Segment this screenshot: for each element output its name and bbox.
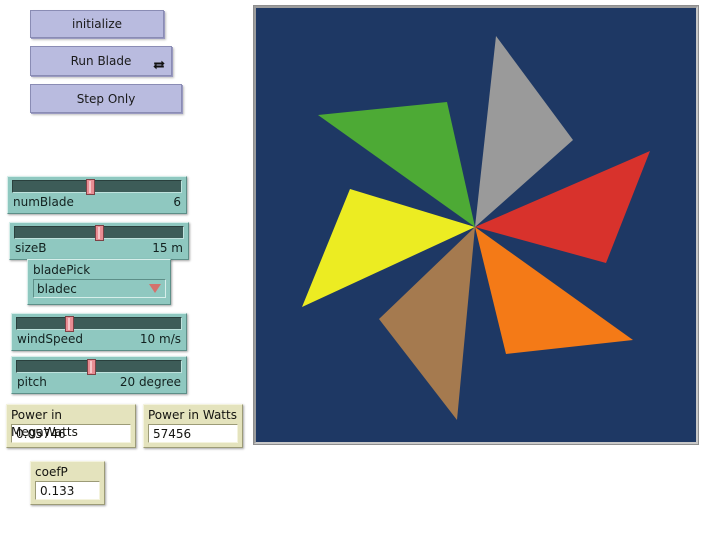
windspeed-slider-label: windSpeed <box>17 332 83 346</box>
bladepick-selected-value: bladec <box>37 282 77 296</box>
bladepick-dropdown[interactable]: bladePick bladec <box>27 259 171 305</box>
power-megawatts-output: Power in MegaWatts0.05746 <box>6 404 136 448</box>
power-watts-output-label: Power in Watts <box>148 407 238 424</box>
windspeed-slider-thumb[interactable] <box>65 316 74 332</box>
step-only-button-label: Step Only <box>77 92 136 106</box>
step-only-button[interactable]: Step Only <box>30 84 182 113</box>
windspeed-slider[interactable]: windSpeed10 m/s <box>11 313 187 351</box>
run-blade-button[interactable]: Run Blade <box>30 46 172 76</box>
sizeb-slider-thumb[interactable] <box>95 225 104 241</box>
windspeed-slider-value: 10 m/s <box>140 332 181 346</box>
numblade-slider-readout: numBlade6 <box>12 193 182 211</box>
sizeb-slider-track[interactable] <box>14 226 184 239</box>
pitch-slider[interactable]: pitch20 degree <box>11 356 187 394</box>
windspeed-slider-track[interactable] <box>16 317 182 330</box>
numblade-slider-value: 6 <box>173 195 181 209</box>
refresh-loop-icon[interactable] <box>152 58 166 72</box>
blade-rotor-svg <box>256 8 696 442</box>
numblade-slider-thumb[interactable] <box>86 179 95 195</box>
pitch-slider-label: pitch <box>17 375 47 389</box>
coefp-output-label: coefP <box>35 464 100 481</box>
numblade-slider[interactable]: numBlade6 <box>7 176 187 214</box>
chevron-down-icon[interactable] <box>149 284 161 293</box>
sizeb-slider[interactable]: sizeB15 m <box>9 222 189 260</box>
initialize-button-label: initialize <box>72 17 122 31</box>
blade-visualization-panel[interactable] <box>254 6 698 444</box>
sizeb-slider-label: sizeB <box>15 241 47 255</box>
pitch-slider-thumb[interactable] <box>87 359 96 375</box>
sizeb-slider-value: 15 m <box>152 241 183 255</box>
initialize-button[interactable]: initialize <box>30 10 164 38</box>
pitch-slider-readout: pitch20 degree <box>16 373 182 391</box>
bladepick-select[interactable]: bladec <box>33 279 166 298</box>
pitch-slider-value: 20 degree <box>120 375 181 389</box>
power-watts-output-value[interactable]: 57456 <box>148 424 238 443</box>
power-watts-output: Power in Watts57456 <box>143 404 243 448</box>
power-megawatts-output-label: Power in MegaWatts <box>11 407 131 424</box>
run-blade-button-label: Run Blade <box>71 54 132 68</box>
coefp-output-value[interactable]: 0.133 <box>35 481 100 500</box>
bladepick-label: bladePick <box>33 262 166 279</box>
coefp-output: coefP0.133 <box>30 461 105 505</box>
windspeed-slider-readout: windSpeed10 m/s <box>16 330 182 348</box>
numblade-slider-label: numBlade <box>13 195 74 209</box>
numblade-slider-track[interactable] <box>12 180 182 193</box>
pitch-slider-track[interactable] <box>16 360 182 373</box>
sizeb-slider-readout: sizeB15 m <box>14 239 184 257</box>
